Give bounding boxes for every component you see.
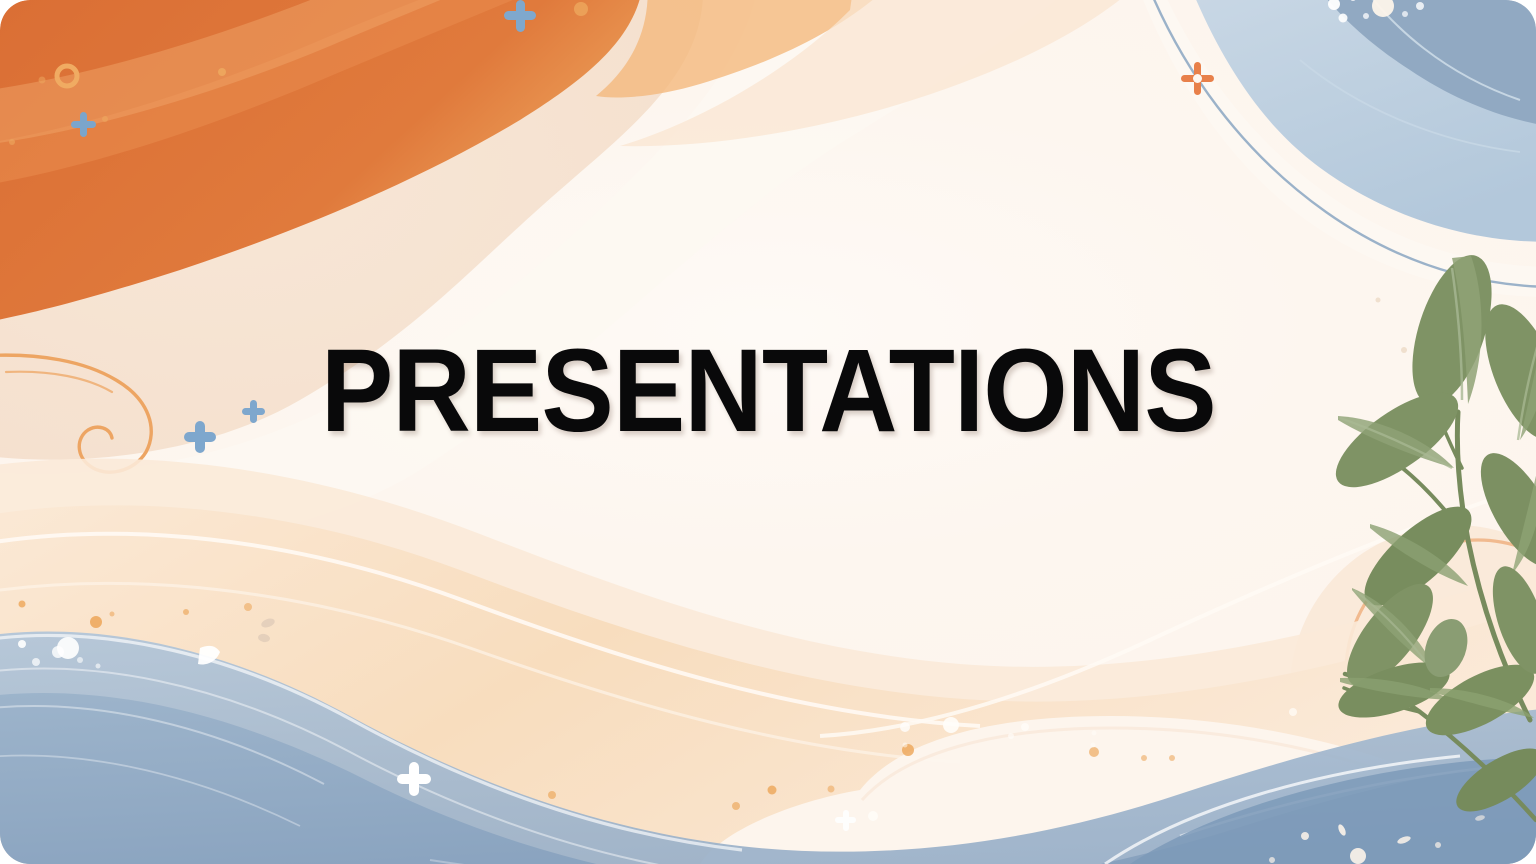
presentation-slide: PRESENTATIONS	[0, 0, 1536, 864]
title-container: PRESENTATIONS	[0, 330, 1536, 454]
page-title: PRESENTATIONS	[321, 330, 1216, 454]
